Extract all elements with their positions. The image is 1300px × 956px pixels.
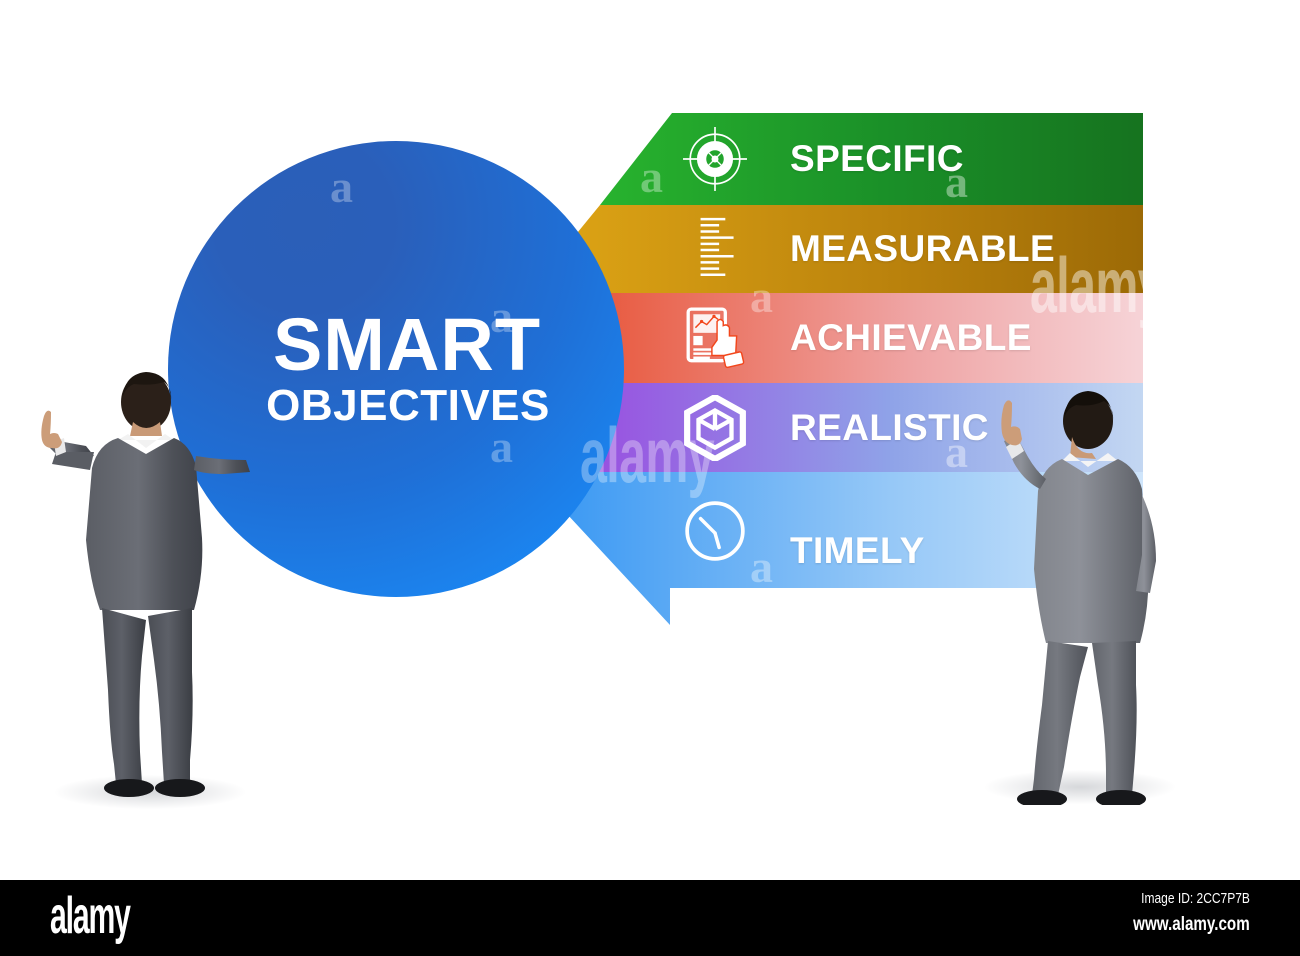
- cube-hexagon-icon: [682, 395, 748, 461]
- bar-label-timely: TIMELY: [790, 530, 925, 572]
- bar-label-measurable: MEASURABLE: [790, 228, 1055, 270]
- target-crosshair-icon: [682, 126, 748, 192]
- tablet-chart-hand-icon: [682, 305, 748, 371]
- left-businessman: [34, 360, 250, 800]
- bar-label-realistic: REALISTIC: [790, 407, 989, 449]
- clock-icon: [682, 498, 748, 564]
- bar-label-specific: SPECIFIC: [790, 138, 964, 180]
- alamy-footer-bar: alamy Image ID: 2CC7P7B www.alamy.com: [0, 880, 1300, 956]
- right-businessman: [984, 385, 1194, 805]
- bar-label-achievable: ACHIEVABLE: [790, 317, 1032, 359]
- alamy-url-text: www.alamy.com: [1133, 914, 1250, 936]
- bar-specific: SPECIFIC: [0, 113, 1143, 205]
- ruler-icon: [682, 216, 748, 282]
- alamy-logo: alamy: [50, 890, 130, 942]
- watermark-letter: a: [490, 625, 513, 678]
- image-id-text: Image ID: 2CC7P7B: [1141, 890, 1250, 907]
- smart-objectives-illustration: SPECIFIC MEASURABLE: [0, 0, 1300, 956]
